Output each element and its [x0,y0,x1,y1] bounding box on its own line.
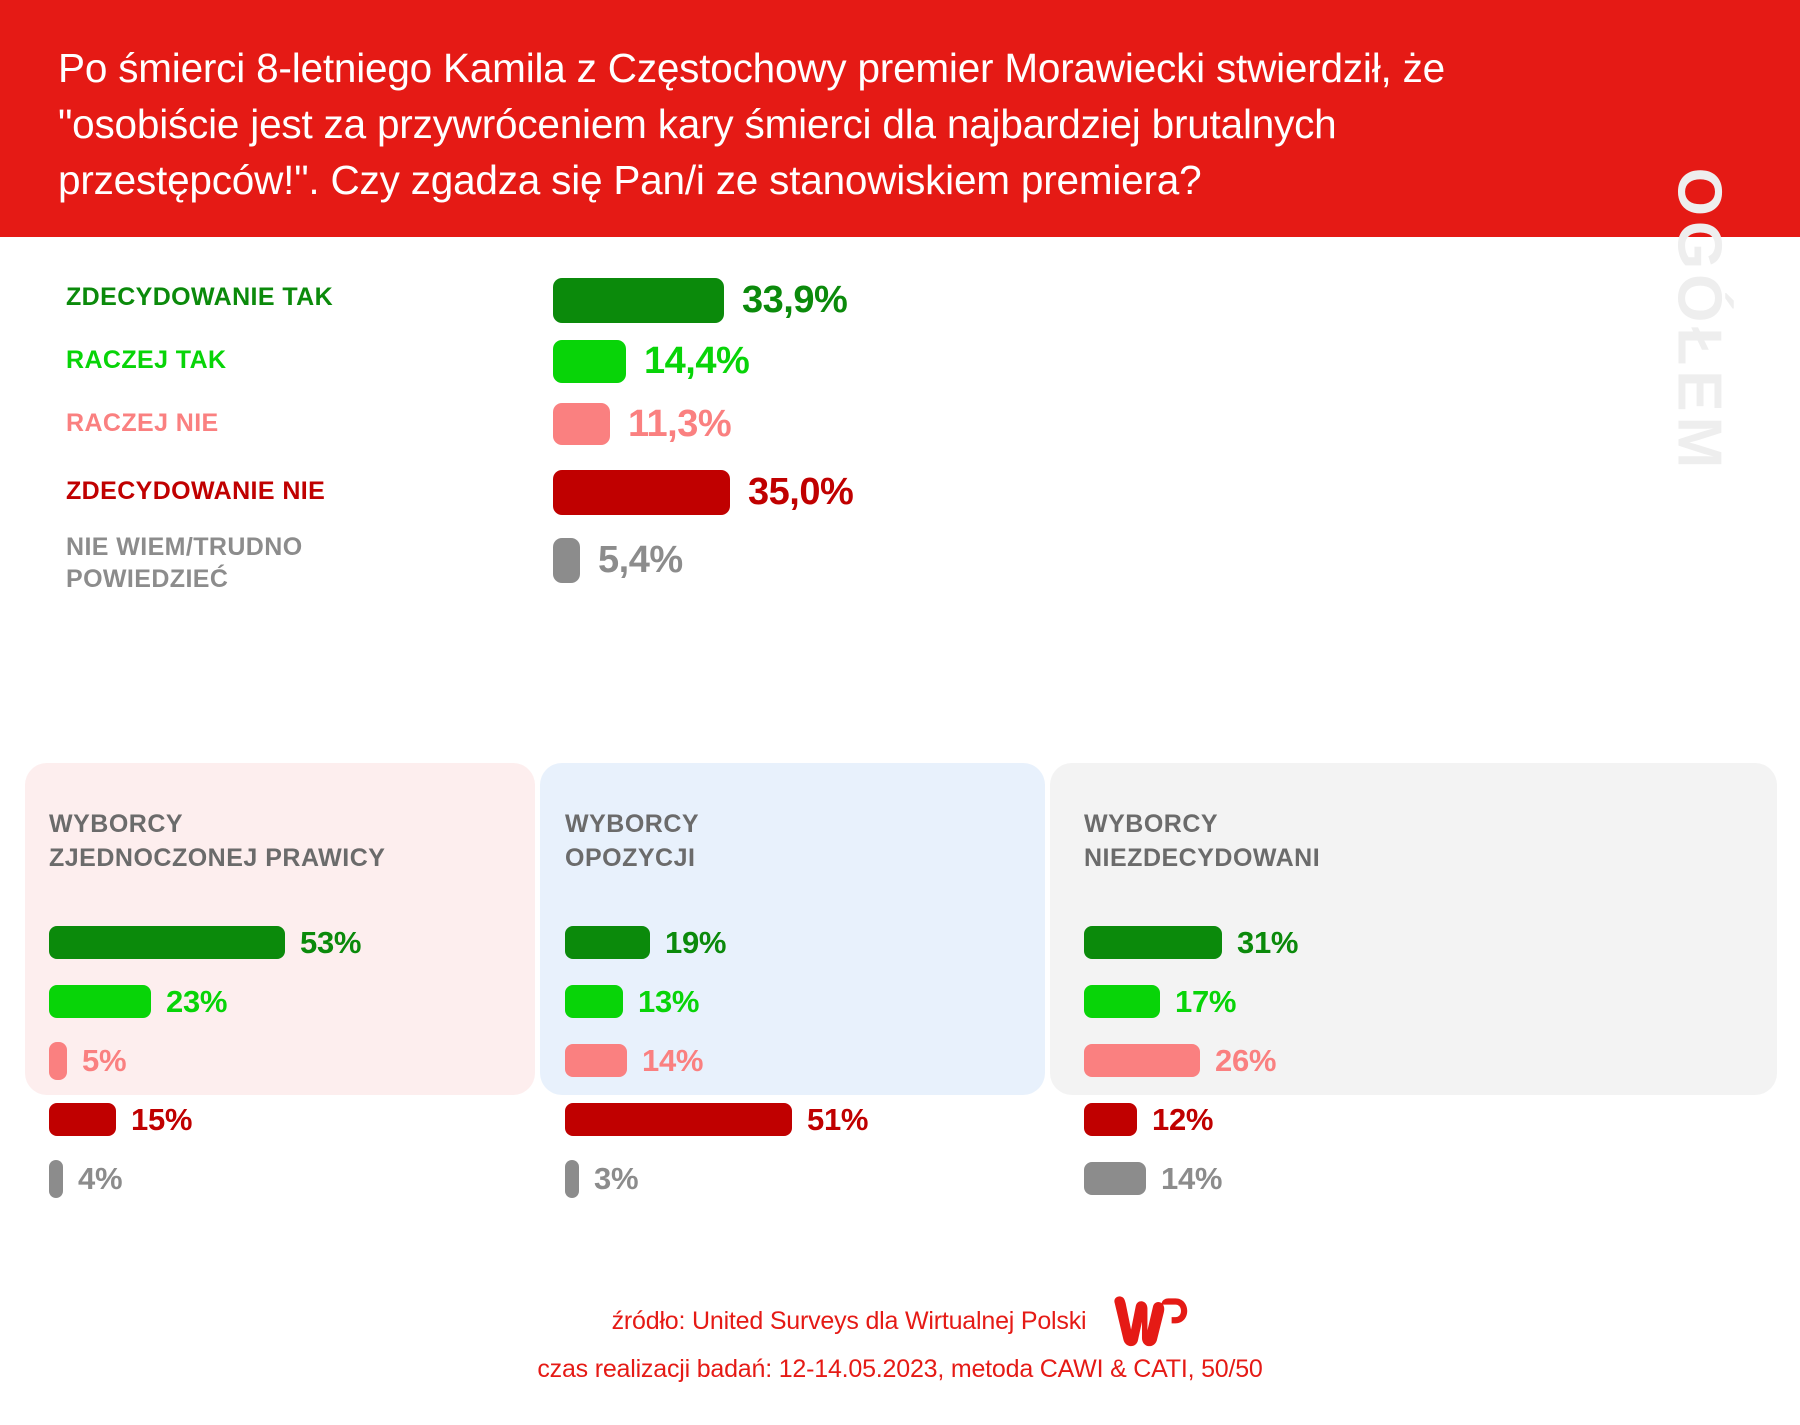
panel-bar-value: 15% [131,1102,192,1138]
main-bar [553,470,730,515]
panel-bar [1084,1162,1146,1195]
panel-row: 53% [49,913,361,972]
panel-row: 12% [1084,1090,1298,1149]
panel-bar-value: 17% [1175,984,1236,1020]
panel-title: WYBORCY ZJEDNOCZONEJ PRAWICY [49,807,385,875]
panel-bar [49,1103,116,1136]
panel-bar-value: 53% [300,925,361,961]
source-text: źródło: United Surveys dla Wirtualnej Po… [612,1307,1087,1336]
panel-bar [49,1042,67,1080]
main-row-label: RACZEJ TAK [66,344,466,376]
main-bar-value: 35,0% [748,471,853,514]
main-bar-value: 11,3% [628,403,731,446]
panel-bar-value: 12% [1152,1102,1213,1138]
footer-method-row: czas realizacji badań: 12-14.05.2023, me… [0,1355,1800,1384]
main-bar-value: 14,4% [644,340,749,383]
panel-row: 19% [565,913,868,972]
panel-bar-value: 14% [642,1043,703,1079]
main-bar-value: 33,9% [742,279,847,322]
panel-row: 26% [1084,1031,1298,1090]
panel-bar [565,1160,579,1198]
main-row-label: NIE WIEM/TRUDNO POWIEDZIEĆ [66,531,466,595]
panel-bar-value: 3% [594,1161,638,1197]
page-title: Po śmierci 8-letniego Kamila z Częstocho… [58,40,1558,208]
panel-row: 31% [1084,913,1298,972]
panel-row: 3% [565,1149,868,1208]
wp-logo [1110,1295,1188,1347]
panel-bar [1084,985,1160,1018]
main-row-bar-group: 11,3% [553,401,731,447]
footer: źródło: United Surveys dla Wirtualnej Po… [0,1295,1800,1425]
panel-bar [565,985,623,1018]
panel-row: 14% [1084,1149,1298,1208]
panel-bar [565,926,650,959]
panels-container: WYBORCY ZJEDNOCZONEJ PRAWICY53%23%5%15%4… [0,763,1800,1095]
panel-row: 13% [565,972,868,1031]
panel-bar [49,1160,63,1198]
panel-3: WYBORCY NIEZDECYDOWANI31%17%26%12%14% [1050,763,1777,1095]
main-row-label: RACZEJ NIE [66,407,466,439]
footer-source-row: źródło: United Surveys dla Wirtualnej Po… [0,1295,1800,1347]
main-bar [553,340,626,383]
infographic-root: Po śmierci 8-letniego Kamila z Częstocho… [0,0,1800,1425]
panel-bar-value: 23% [166,984,227,1020]
panel-row: 23% [49,972,361,1031]
panel-rows: 31%17%26%12%14% [1084,913,1298,1208]
header-banner: Po śmierci 8-letniego Kamila z Częstocho… [0,0,1800,237]
panel-row: 15% [49,1090,361,1149]
method-text: czas realizacji badań: 12-14.05.2023, me… [537,1355,1262,1383]
panel-bar-value: 31% [1237,925,1298,961]
panel-row: 4% [49,1149,361,1208]
panel-bar [565,1044,627,1077]
panel-row: 51% [565,1090,868,1149]
panel-bar [565,1103,792,1136]
panel-2: WYBORCY OPOZYCJI19%13%14%51%3% [540,763,1045,1095]
main-row-bar-group: 33,9% [553,277,847,323]
main-row-bar-group: 5,4% [553,537,683,583]
panel-bar [1084,1044,1200,1077]
main-bar [553,538,580,583]
main-bar [553,403,610,445]
panel-bar [49,985,151,1018]
panel-rows: 19%13%14%51%3% [565,913,868,1208]
panel-row: 5% [49,1031,361,1090]
main-bar [553,278,724,323]
panel-rows: 53%23%5%15%4% [49,913,361,1208]
panel-bar [1084,926,1222,959]
main-chart: ZDECYDOWANIE TAK33,9%RACZEJ TAK14,4%RACZ… [0,237,1800,657]
panel-bar-value: 51% [807,1102,868,1138]
main-row-bar-group: 14,4% [553,338,749,384]
panel-1: WYBORCY ZJEDNOCZONEJ PRAWICY53%23%5%15%4… [25,763,535,1095]
panel-title: WYBORCY NIEZDECYDOWANI [1084,807,1320,875]
main-row-label: ZDECYDOWANIE NIE [66,475,466,507]
main-row-bar-group: 35,0% [553,469,853,515]
panel-title: WYBORCY OPOZYCJI [565,807,699,875]
main-row-label: ZDECYDOWANIE TAK [66,281,466,313]
panel-bar-value: 4% [78,1161,122,1197]
panel-bar-value: 13% [638,984,699,1020]
panel-bar [49,926,285,959]
main-bar-value: 5,4% [598,539,683,582]
panel-bar-value: 14% [1161,1161,1222,1197]
panel-row: 14% [565,1031,868,1090]
panel-bar-value: 5% [82,1043,126,1079]
panel-bar [1084,1103,1137,1136]
panel-bar-value: 19% [665,925,726,961]
panel-bar-value: 26% [1215,1043,1276,1079]
panel-row: 17% [1084,972,1298,1031]
